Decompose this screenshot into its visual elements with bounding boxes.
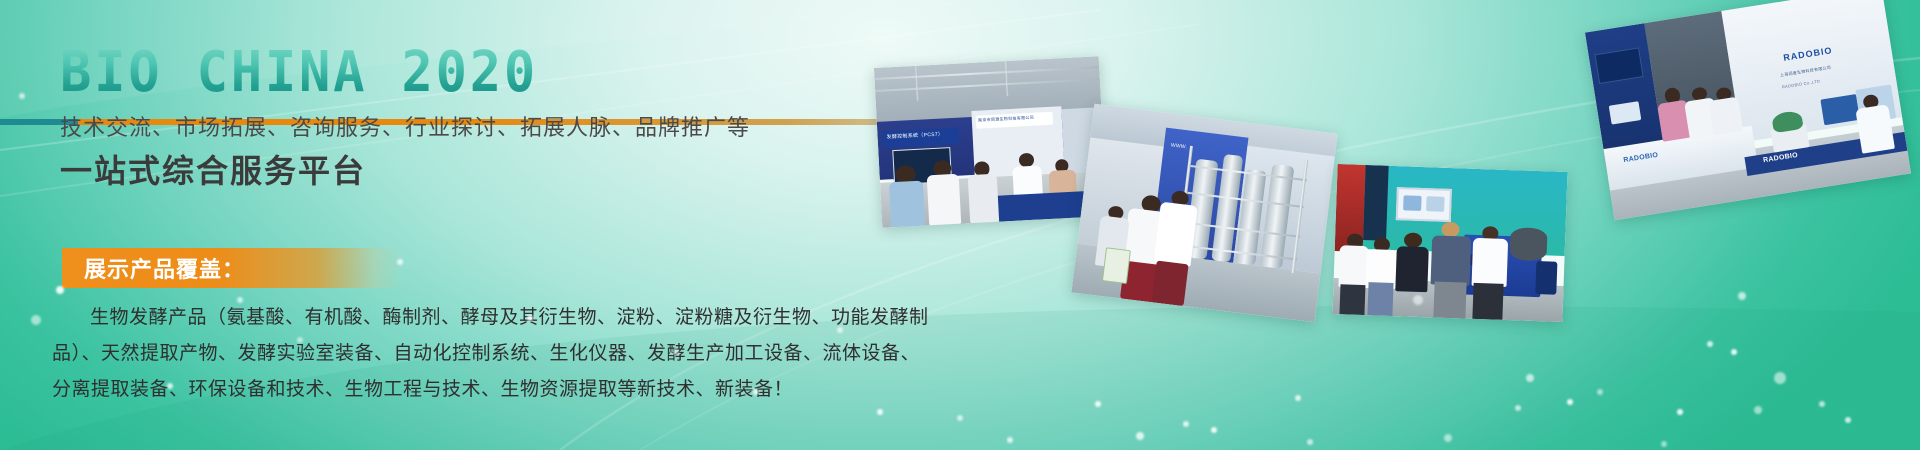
bokeh-dot [1661,441,1667,447]
promo-banner: BIO CHINA 2020 技术交流、市场拓展、咨询服务、行业探讨、拓展人脉、… [0,0,1920,450]
photo-exhibition-hall-booth-visitors: 发酵控制系统（PCS7） 南京市同源生物科技有限公司 [874,56,1107,228]
photo-image [1332,164,1567,322]
subtitle-line-2: 一站式综合服务平台 [60,146,366,192]
bokeh-dot [1526,374,1534,382]
bokeh-dot [1444,434,1452,442]
subtitle-line-1: 技术交流、市场拓展、咨询服务、行业探讨、拓展人脉、品牌推广等 [60,110,750,142]
bokeh-dot [1515,405,1521,411]
photo-radobio-booth-reception: RADOBIO 上海润度生物科技有限公司 RADOBIO Co.,LTD RAD… [1585,0,1911,220]
paragraph-line: 品）、天然提取产物、发酵实验室装备、自动化控制系统、生化仪器、发酵生产加工设备、… [52,336,852,372]
photo-fermentation-equipment-stainless-tanks: WWW. [1071,104,1337,322]
product-scope-paragraph: 生物发酵产品（氨基酸、有机酸、酶制剂、酵母及其衍生物、淀粉、淀粉糖及衍生物、功能… [52,300,852,408]
photo-image: WWW. [1071,104,1337,322]
text-column: BIO CHINA 2020 技术交流、市场拓展、咨询服务、行业探讨、拓展人脉、… [0,0,900,450]
photo-visitors-viewing-blue-machinery [1332,164,1567,322]
photo-frame-inner: 发酵控制系统（PCS7） 南京市同源生物科技有限公司 [874,56,1107,228]
photo-frame-inner [1332,164,1567,322]
bokeh-dot [1136,432,1144,440]
bokeh-dot [1007,437,1013,443]
bokeh-dot [1738,292,1746,300]
bokeh-dot [1754,406,1762,414]
bokeh-dot [1183,421,1189,427]
bokeh-dot [1307,439,1313,445]
page-title: BIO CHINA 2020 [60,40,538,105]
section-label-banner: 展示产品覆盖： [62,248,402,288]
bokeh-dot [1707,341,1713,347]
bokeh-dot [1819,401,1825,407]
section-label-text: 展示产品覆盖： [62,252,245,284]
bokeh-dot [1731,349,1737,355]
photo-frame-inner: RADOBIO 上海润度生物科技有限公司 RADOBIO Co.,LTD RAD… [1585,0,1911,220]
bokeh-dot [1295,395,1301,401]
bokeh-dot [1774,372,1786,384]
bokeh-dot [1597,389,1603,395]
paragraph-line: 分离提取装备、环保设备和技术、生物工程与技术、生物资源提取等新技术、新装备！ [52,372,852,408]
bokeh-dot [957,415,963,421]
photo-image: RADOBIO 上海润度生物科技有限公司 RADOBIO Co.,LTD RAD… [1585,0,1911,220]
bokeh-dot [1211,427,1217,433]
paragraph-line: 生物发酵产品（氨基酸、有机酸、酶制剂、酵母及其衍生物、淀粉、淀粉糖及衍生物、功能… [52,300,852,336]
bokeh-dot [1095,401,1101,407]
photo-frame-inner: WWW. [1071,104,1337,322]
bokeh-dot [1677,409,1683,415]
bokeh-dot [1845,417,1851,423]
photo-image: 发酵控制系统（PCS7） 南京市同源生物科技有限公司 [874,56,1107,228]
bokeh-dot [1567,399,1573,405]
